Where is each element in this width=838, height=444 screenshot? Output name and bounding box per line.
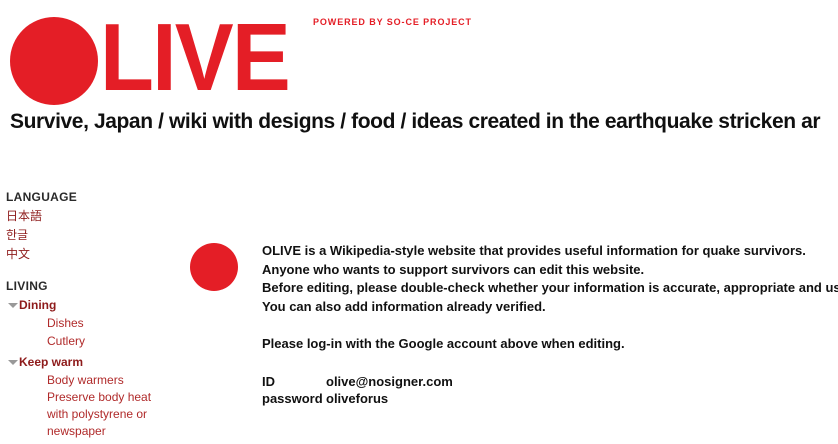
sidebar-category-label-dining[interactable]: Dining [19, 296, 56, 314]
intro-line-3: Before editing, please double-check whet… [262, 279, 838, 298]
sidebar-heading-living: LIVING [6, 279, 180, 293]
sidebar-item-language-korean[interactable]: 한글 [6, 226, 180, 245]
credential-row-id: ID olive@nosigner.com [262, 373, 838, 390]
site-tagline: Survive, Japan / wiki with designs / foo… [10, 110, 838, 134]
sidebar-section-living: LIVING Dining Dishes Cutlery Keep warm B… [6, 279, 180, 440]
sidebar-section-language: LANGUAGE 日本語 한글 中文 [6, 190, 180, 264]
sidebar-category-keep-warm[interactable]: Keep warm [6, 353, 180, 371]
sidebar-category-label-keep-warm[interactable]: Keep warm [19, 353, 83, 371]
chevron-down-icon[interactable] [6, 296, 19, 314]
main-intro-block: OLIVE is a Wikipedia-style website that … [262, 242, 838, 407]
site-header: LIVE POWERED BY SO-CE PROJECT [0, 0, 838, 108]
intro-line-1: OLIVE is a Wikipedia-style website that … [262, 242, 838, 261]
intro-line-4: You can also add information already ver… [262, 298, 838, 317]
powered-by-label: POWERED BY SO-CE PROJECT [313, 17, 472, 27]
login-note: Please log-in with the Google account ab… [262, 335, 838, 354]
sidebar-heading-language: LANGUAGE [6, 190, 180, 204]
intro-line-2: Anyone who wants to support survivors ca… [262, 261, 838, 280]
credential-label-password: password [262, 390, 326, 407]
sidebar-item-preserve-body-heat[interactable]: Preserve body heat with polystyrene or n… [47, 389, 167, 440]
paragraph-spacer [262, 316, 838, 335]
credential-value-password[interactable]: oliveforus [326, 390, 388, 407]
logo-wordmark: LIVE [100, 14, 289, 102]
olive-logo-circle-icon [10, 17, 98, 105]
main-red-circle-icon [190, 243, 238, 291]
sidebar-item-cutlery[interactable]: Cutlery [47, 332, 180, 350]
sidebar-item-language-japanese[interactable]: 日本語 [6, 207, 180, 226]
sidebar-item-dishes[interactable]: Dishes [47, 314, 180, 332]
sidebar-item-body-warmers[interactable]: Body warmers [47, 371, 180, 389]
content-area: LANGUAGE 日本語 한글 中文 LIVING Dining Dishes … [0, 150, 838, 444]
credential-value-id[interactable]: olive@nosigner.com [326, 373, 453, 390]
site-logo[interactable]: LIVE [10, 10, 305, 105]
credentials-block: ID olive@nosigner.com password oliveforu… [262, 373, 838, 407]
credential-row-password: password oliveforus [262, 390, 838, 407]
credential-label-id: ID [262, 373, 326, 390]
chevron-down-icon[interactable] [6, 353, 19, 371]
main-panel: OLIVE is a Wikipedia-style website that … [180, 150, 838, 444]
sidebar-item-language-chinese[interactable]: 中文 [6, 245, 180, 264]
sidebar-category-dining[interactable]: Dining [6, 296, 180, 314]
sidebar-navigation: LANGUAGE 日本語 한글 中文 LIVING Dining Dishes … [0, 150, 180, 440]
